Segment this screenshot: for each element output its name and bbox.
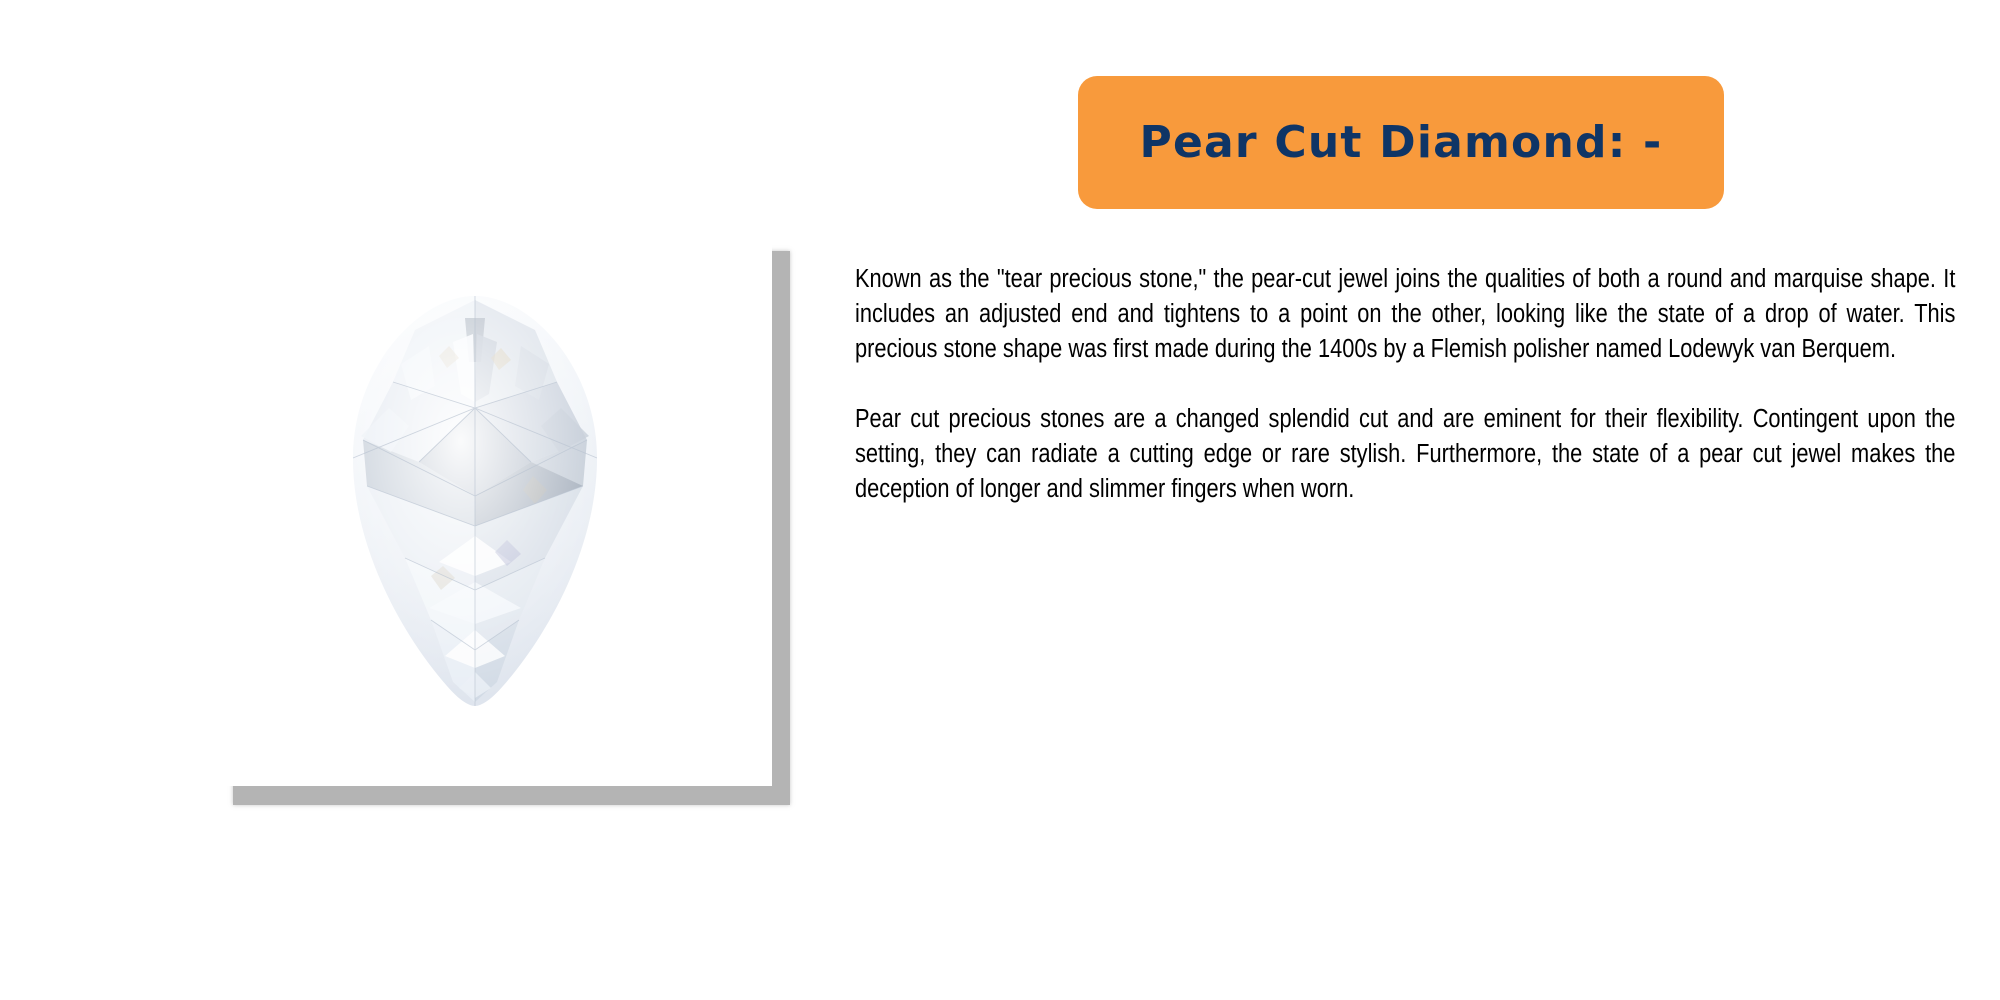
slide-canvas: Pear Cut Diamond: - Known as the "tear p… [0, 0, 2000, 1000]
body-copy: Known as the "tear precious stone," the … [855, 262, 1955, 507]
page-title: Pear Cut Diamond: - [1140, 121, 1663, 165]
paragraph-2: Pear cut precious stones are a changed s… [855, 402, 1955, 507]
diamond-photo-card[interactable] [215, 232, 772, 786]
title-banner[interactable]: Pear Cut Diamond: - [1078, 76, 1724, 209]
diamond-image [335, 290, 615, 710]
paragraph-1: Known as the "tear precious stone," the … [855, 262, 1955, 367]
